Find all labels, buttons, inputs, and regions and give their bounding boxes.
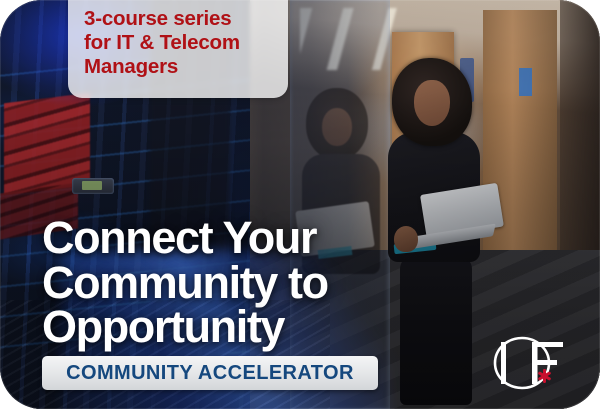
subtitle-text: COMMUNITY ACCELERATOR <box>66 362 354 385</box>
promo-card: 3-course series for IT & Telecom Manager… <box>0 0 600 409</box>
logo-letter-f-mid-arm <box>537 360 557 365</box>
logo-letter-f-stem <box>532 342 538 384</box>
subtitle-banner: COMMUNITY ACCELERATOR <box>42 356 378 390</box>
eyebrow-text: 3-course series for IT & Telecom Manager… <box>84 7 284 79</box>
logo-letter-i <box>501 342 506 384</box>
page-title: Connect Your Community to Opportunity <box>42 216 462 350</box>
logo-letter-f-top-arm <box>537 342 563 347</box>
icf-logo[interactable] <box>492 336 584 390</box>
